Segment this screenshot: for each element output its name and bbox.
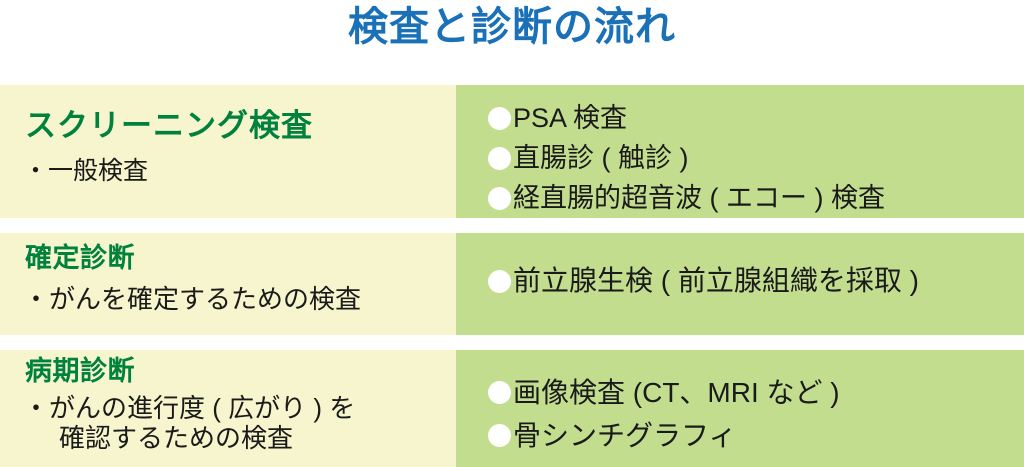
list-item: 前立腺生検 ( 前立腺組織を採取 ) (488, 261, 1018, 301)
bullet-circle-icon (488, 107, 511, 130)
list-item: 骨シンチグラフィ (488, 415, 1018, 456)
stage-description-line1: ・がんを確定するための検査 (23, 284, 361, 314)
bullet-circle-icon (488, 270, 511, 293)
stage-description-line1: ・一般検査 (23, 157, 148, 185)
stage-heading-staging: 病期診断 (25, 358, 135, 385)
test-pane-staging: 画像検査 (CT、MRI など ) 骨シンチグラフィ (456, 350, 1024, 467)
test-pane-screening: PSA 検査 直腸診 ( 触診 ) 経直腸的超音波 ( エコー ) 検査 (456, 85, 1024, 218)
bullet-circle-icon (488, 381, 511, 404)
stage-description-screening: ・一般検査 (23, 157, 148, 186)
list-item: 直腸診 ( 触診 ) (488, 139, 1018, 177)
bullet-circle-icon (488, 147, 511, 170)
list-item-label: 骨シンチグラフィ (513, 415, 736, 456)
list-item: 画像検査 (CT、MRI など ) (488, 372, 1018, 413)
bullet-circle-icon (488, 187, 511, 210)
test-list-staging: 画像検査 (CT、MRI など ) 骨シンチグラフィ (488, 372, 1018, 458)
stage-description-definitive-diagnosis: ・がんを確定するための検査 (23, 285, 361, 315)
bullet-circle-icon (488, 424, 511, 447)
stage-pane-screening: スクリーニング検査 ・一般検査 (0, 85, 456, 218)
infographic-root: 検査と診断の流れ スクリーニング検査 ・一般検査 PSA 検査 直腸診 ( 触診… (0, 0, 1024, 467)
list-item-label: 直腸診 ( 触診 ) (513, 139, 689, 177)
list-item-label: 前立腺生検 ( 前立腺組織を採取 ) (513, 261, 919, 301)
list-item-label: PSA 検査 (513, 99, 627, 137)
flow-row-screening: スクリーニング検査 ・一般検査 PSA 検査 直腸診 ( 触診 ) 経直腸的超音… (0, 85, 1024, 218)
test-list-definitive-diagnosis: 前立腺生検 ( 前立腺組織を採取 ) (488, 261, 1018, 303)
flow-row-definitive-diagnosis: 確定診断 ・がんを確定するための検査 前立腺生検 ( 前立腺組織を採取 ) (0, 233, 1024, 335)
list-item-label: 経直腸的超音波 ( エコー ) 検査 (513, 179, 885, 217)
stage-pane-definitive-diagnosis: 確定診断 ・がんを確定するための検査 (0, 233, 456, 335)
list-item-label: 画像検査 (CT、MRI など ) (513, 372, 840, 413)
stage-heading-screening: スクリーニング検査 (25, 110, 313, 141)
page-title: 検査と診断の流れ (0, 2, 1024, 52)
list-item: PSA 検査 (488, 99, 1018, 137)
test-pane-definitive-diagnosis: 前立腺生検 ( 前立腺組織を採取 ) (456, 233, 1024, 335)
test-list-screening: PSA 検査 直腸診 ( 触診 ) 経直腸的超音波 ( エコー ) 検査 (488, 99, 1018, 219)
list-item: 経直腸的超音波 ( エコー ) 検査 (488, 179, 1018, 217)
flow-row-staging: 病期診断 ・がんの進行度 ( 広がり ) を 確認するための検査 画像検査 (C… (0, 350, 1024, 467)
stage-description-line1: ・がんの進行度 ( 広がり ) を (23, 393, 355, 423)
stage-pane-staging: 病期診断 ・がんの進行度 ( 広がり ) を 確認するための検査 (0, 350, 456, 467)
stage-heading-definitive-diagnosis: 確定診断 (25, 245, 135, 272)
stage-description-line2: 確認するための検査 (23, 424, 355, 454)
stage-description-staging: ・がんの進行度 ( 広がり ) を 確認するための検査 (23, 394, 355, 454)
